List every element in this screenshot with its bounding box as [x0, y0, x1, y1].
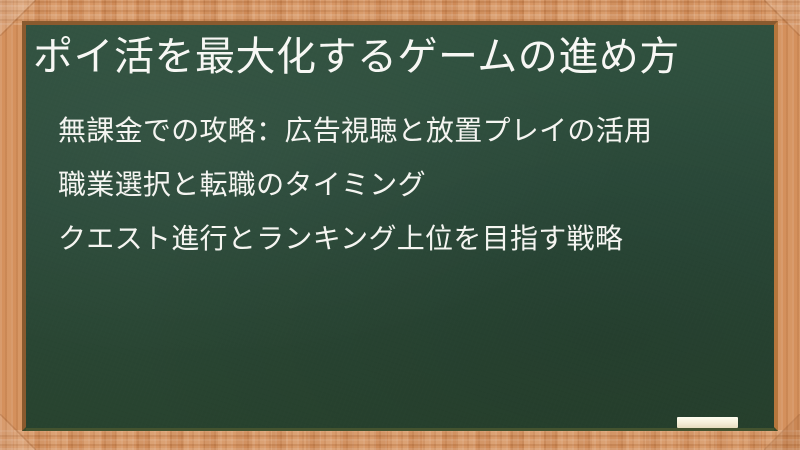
board-topic-list: 無課金での攻略：広告視聴と放置プレイの活用 職業選択と転職のタイミング クエスト… — [58, 104, 758, 266]
board-topic-line-2: 職業選択と転職のタイミング — [58, 158, 758, 212]
blackboard-frame: ポイ活を最大化するゲームの進め方 無課金での攻略：広告視聴と放置プレイの活用 職… — [0, 0, 800, 450]
board-topic-line-1: 無課金での攻略：広告視聴と放置プレイの活用 — [58, 104, 758, 158]
chalk-stick — [677, 417, 738, 428]
wood-grain-top-texture — [0, 0, 800, 25]
chalk-ledge-shadow — [26, 428, 774, 431]
board-title: ポイ活を最大化するゲームの進め方 — [33, 32, 753, 82]
board-topic-line-3: クエスト進行とランキング上位を目指す戦略 — [58, 212, 758, 266]
wood-grain-bottom-texture — [0, 430, 800, 450]
chalkboard-surface: ポイ活を最大化するゲームの進め方 無課金での攻略：広告視聴と放置プレイの活用 職… — [26, 25, 774, 428]
